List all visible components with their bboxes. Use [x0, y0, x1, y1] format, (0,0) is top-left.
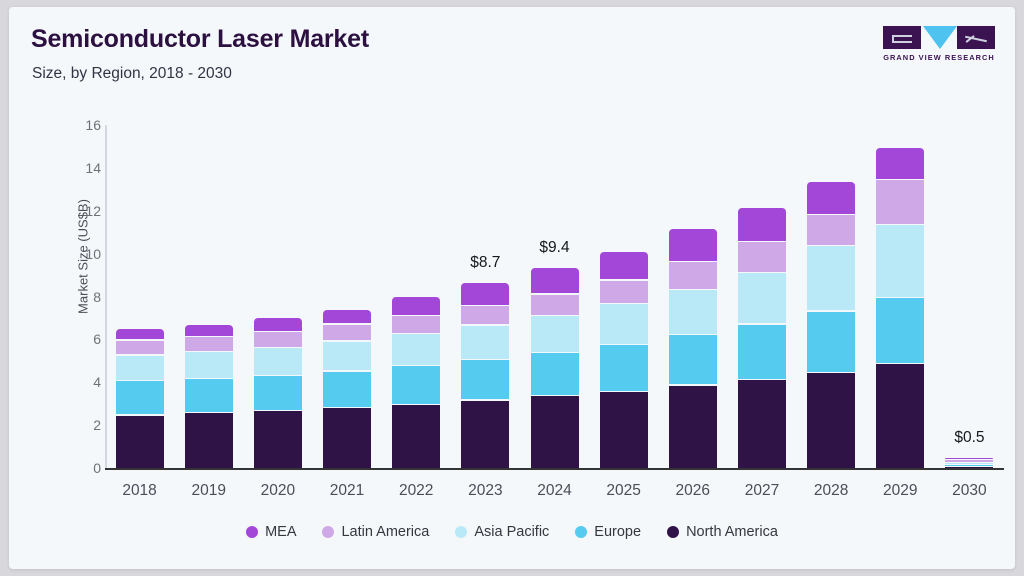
bar-value-label: $8.7	[445, 254, 525, 272]
bar-segment[interactable]	[323, 372, 371, 407]
bar-segment[interactable]	[876, 180, 924, 224]
bar-segment[interactable]	[185, 413, 233, 468]
logo-r-icon	[957, 26, 995, 49]
bar-segment[interactable]	[323, 408, 371, 468]
x-tick-label: 2029	[883, 482, 917, 500]
bar-group[interactable]	[876, 125, 924, 468]
bar-segment[interactable]	[116, 381, 164, 414]
bar-segment[interactable]	[807, 312, 855, 372]
bar-segment[interactable]	[669, 335, 717, 384]
bar-group[interactable]: $0.5	[945, 125, 993, 468]
page-subtitle: Size, by Region, 2018 - 2030	[32, 65, 232, 83]
bar-segment[interactable]	[392, 297, 440, 315]
bar-segment[interactable]	[323, 325, 371, 341]
bar-segment[interactable]	[323, 310, 371, 324]
bar-segment[interactable]	[531, 396, 579, 468]
bar-value-label: $0.5	[929, 429, 1009, 447]
x-tick-label: 2021	[330, 482, 364, 500]
bar-segment[interactable]	[254, 348, 302, 375]
bar-segment[interactable]	[531, 268, 579, 294]
bar-segment[interactable]	[254, 376, 302, 410]
y-tick-label: 4	[55, 374, 101, 390]
legend-item[interactable]: Asia Pacific	[455, 524, 549, 540]
y-axis-ticks: 0246810121416	[45, 125, 101, 468]
chart-header: Semiconductor Laser Market Size, by Regi…	[9, 7, 1015, 99]
legend-item[interactable]: MEA	[246, 524, 296, 540]
bar-segment[interactable]	[807, 373, 855, 468]
bar-segment[interactable]	[185, 325, 233, 337]
bar-segment[interactable]	[254, 411, 302, 468]
chart-plot-area: Market Size (US$B) 0246810121416 $8.7$9.…	[9, 99, 1015, 569]
bar-value-label: $9.4	[515, 239, 595, 257]
bar-segment[interactable]	[461, 306, 509, 324]
legend-item[interactable]: Latin America	[322, 524, 429, 540]
bar-segment[interactable]	[669, 262, 717, 289]
bar-segment[interactable]	[945, 467, 993, 468]
bar-segment[interactable]	[392, 366, 440, 403]
y-tick-label: 0	[55, 460, 101, 476]
bar-group[interactable]: $9.4	[531, 125, 579, 468]
legend-item[interactable]: Europe	[575, 524, 641, 540]
bar-segment[interactable]	[531, 295, 579, 315]
bar-segment[interactable]	[876, 225, 924, 297]
x-tick-label: 2026	[676, 482, 710, 500]
legend-label: North America	[686, 524, 778, 540]
bar-segment[interactable]	[600, 392, 648, 468]
y-tick-label: 16	[55, 117, 101, 133]
grand-view-research-logo: GRAND VIEW RESEARCH	[883, 26, 995, 68]
legend-label: Europe	[594, 524, 641, 540]
legend-label: Latin America	[341, 524, 429, 540]
y-tick-label: 2	[55, 417, 101, 433]
bar-group[interactable]	[392, 125, 440, 468]
bar-segment[interactable]	[531, 316, 579, 352]
y-tick-label: 14	[55, 160, 101, 176]
bar-segment[interactable]	[600, 281, 648, 303]
logo-v-triangle-icon	[923, 26, 957, 49]
bar-segment[interactable]	[738, 380, 786, 468]
x-tick-label: 2020	[261, 482, 295, 500]
bar-segment[interactable]	[876, 364, 924, 468]
bars-container: $8.7$9.4$0.5	[105, 125, 1004, 468]
bar-segment[interactable]	[738, 273, 786, 323]
x-tick-label: 2024	[537, 482, 571, 500]
legend-label: Asia Pacific	[474, 524, 549, 540]
bar-segment[interactable]	[185, 337, 233, 351]
legend-color-swatch	[575, 526, 587, 538]
bar-segment[interactable]	[945, 465, 993, 466]
bar-group[interactable]	[323, 125, 371, 468]
y-tick-label: 8	[55, 289, 101, 305]
x-tick-label: 2022	[399, 482, 433, 500]
bar-group[interactable]	[116, 125, 164, 468]
x-tick-label: 2030	[952, 482, 986, 500]
bar-group[interactable]	[807, 125, 855, 468]
bar-segment[interactable]	[254, 318, 302, 331]
bar-segment[interactable]	[392, 316, 440, 333]
bar-segment[interactable]	[945, 460, 993, 461]
bar-segment[interactable]	[531, 353, 579, 395]
bar-segment[interactable]	[807, 215, 855, 245]
bar-segment[interactable]	[876, 298, 924, 363]
legend-color-swatch	[667, 526, 679, 538]
bar-group[interactable]	[738, 125, 786, 468]
bar-segment[interactable]	[807, 246, 855, 310]
bar-segment[interactable]	[116, 341, 164, 355]
legend-label: MEA	[265, 524, 296, 540]
bar-segment[interactable]	[600, 304, 648, 344]
bar-segment[interactable]	[392, 405, 440, 468]
chart-card: Semiconductor Laser Market Size, by Regi…	[9, 7, 1015, 569]
x-tick-label: 2019	[191, 482, 225, 500]
legend-item[interactable]: North America	[667, 524, 778, 540]
bar-segment[interactable]	[738, 325, 786, 380]
bar-group[interactable]	[185, 125, 233, 468]
bar-segment[interactable]	[669, 290, 717, 334]
bar-segment[interactable]	[945, 458, 993, 459]
bar-segment[interactable]	[461, 326, 509, 359]
logo-text: GRAND VIEW RESEARCH	[883, 53, 995, 62]
bar-group[interactable]	[600, 125, 648, 468]
x-tick-label: 2018	[122, 482, 156, 500]
x-tick-label: 2028	[814, 482, 848, 500]
x-tick-label: 2027	[745, 482, 779, 500]
y-tick-label: 6	[55, 331, 101, 347]
logo-g-icon	[883, 26, 921, 49]
bar-segment[interactable]	[116, 356, 164, 381]
bar-segment[interactable]	[185, 352, 233, 378]
page-title: Semiconductor Laser Market	[31, 25, 369, 54]
bar-segment[interactable]	[669, 386, 717, 468]
bar-segment[interactable]	[116, 329, 164, 340]
bar-segment[interactable]	[323, 342, 371, 371]
bar-segment[interactable]	[461, 360, 509, 400]
bar-segment[interactable]	[738, 208, 786, 241]
bar-segment[interactable]	[116, 416, 164, 468]
bar-segment[interactable]	[669, 229, 717, 261]
bar-segment[interactable]	[945, 463, 993, 464]
legend-color-swatch	[322, 526, 334, 538]
bar-group[interactable]: $8.7	[461, 125, 509, 468]
bar-segment[interactable]	[392, 334, 440, 365]
bar-group[interactable]	[254, 125, 302, 468]
bar-group[interactable]	[669, 125, 717, 468]
y-tick-label: 12	[55, 203, 101, 219]
x-tick-label: 2025	[606, 482, 640, 500]
bar-segment[interactable]	[461, 401, 509, 468]
chart-legend: MEALatin AmericaAsia PacificEuropeNorth …	[9, 524, 1015, 540]
bar-segment[interactable]	[185, 379, 233, 412]
x-tick-label: 2023	[468, 482, 502, 500]
logo-marks	[883, 26, 995, 49]
bar-segment[interactable]	[461, 283, 509, 305]
bar-segment[interactable]	[876, 148, 924, 179]
bar-segment[interactable]	[254, 332, 302, 347]
legend-color-swatch	[246, 526, 258, 538]
bar-segment[interactable]	[738, 242, 786, 272]
bar-segment[interactable]	[807, 182, 855, 214]
bar-segment[interactable]	[600, 252, 648, 280]
y-tick-label: 10	[55, 246, 101, 262]
bar-segment[interactable]	[600, 345, 648, 391]
legend-color-swatch	[455, 526, 467, 538]
x-axis-line	[105, 468, 1004, 470]
